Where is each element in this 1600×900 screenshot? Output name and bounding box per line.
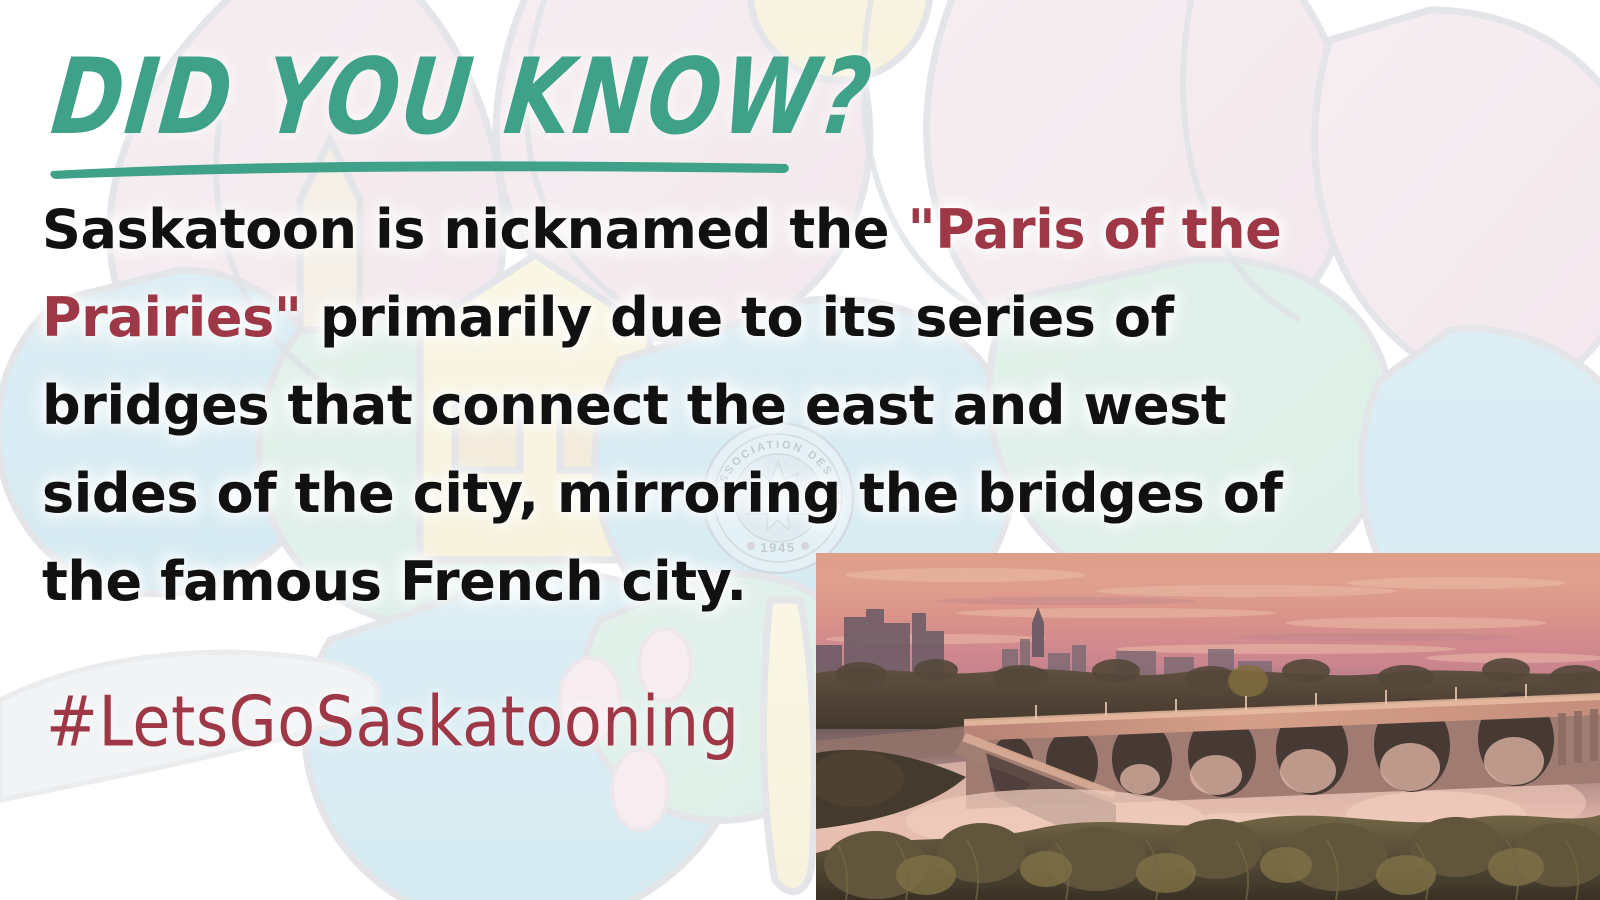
slide-canvas: ASSOCIATION DES DIALOGUES DU 1945 DID YO… bbox=[0, 0, 1600, 900]
heading-underline-stroke bbox=[48, 158, 790, 180]
bridge-photo-graphic bbox=[816, 553, 1600, 900]
hashtag-text: #LetsGoSaskatooning bbox=[46, 684, 739, 760]
heading-group: DID YOU KNOW? bbox=[60, 28, 880, 178]
bridge-sunset-photo bbox=[816, 553, 1600, 900]
body-text-part-1: Saskatoon is nicknamed the bbox=[42, 198, 908, 261]
page-title: DID YOU KNOW? bbox=[47, 28, 880, 150]
